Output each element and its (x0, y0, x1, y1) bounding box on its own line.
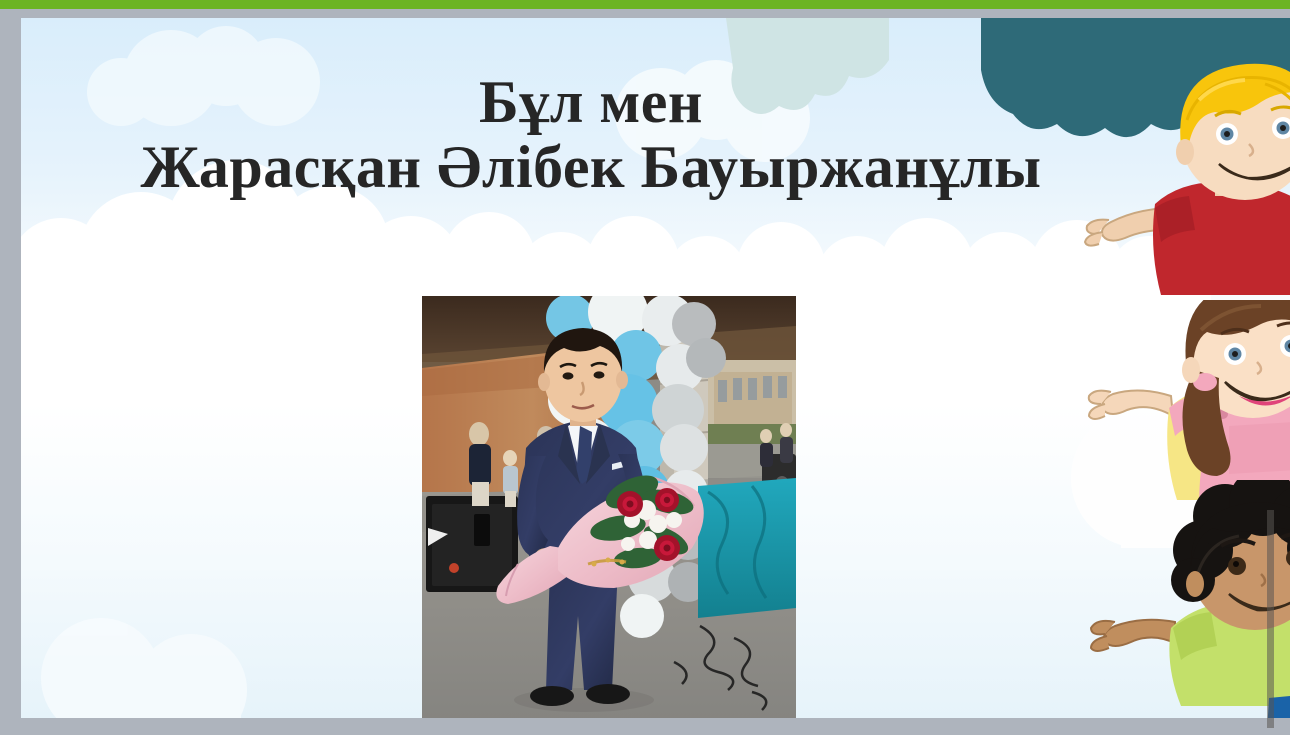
title-line-1: Бұл мен (41, 70, 1141, 135)
presentation-slide: Бұл мен Жарасқан Әлібек Бауыржанұлы (0, 0, 1290, 735)
slide-title: Бұл мен Жарасқан Әлібек Бауыржанұлы (41, 70, 1141, 200)
top-accent-bar (0, 0, 1290, 9)
window-left-border (0, 9, 21, 735)
illustration-dark-skin-boy (1079, 480, 1290, 718)
illustration-blonde-boy (1069, 60, 1290, 295)
slide-canvas: Бұл мен Жарасқан Әлібек Бауыржанұлы (21, 18, 1290, 718)
student-photo (422, 296, 796, 718)
student-photo-image (422, 296, 796, 718)
title-line-2: Жарасқан Әлібек Бауыржанұлы (41, 135, 1141, 200)
vertical-scrollbar[interactable] (1267, 510, 1274, 728)
window-bottom-border (0, 718, 1290, 735)
